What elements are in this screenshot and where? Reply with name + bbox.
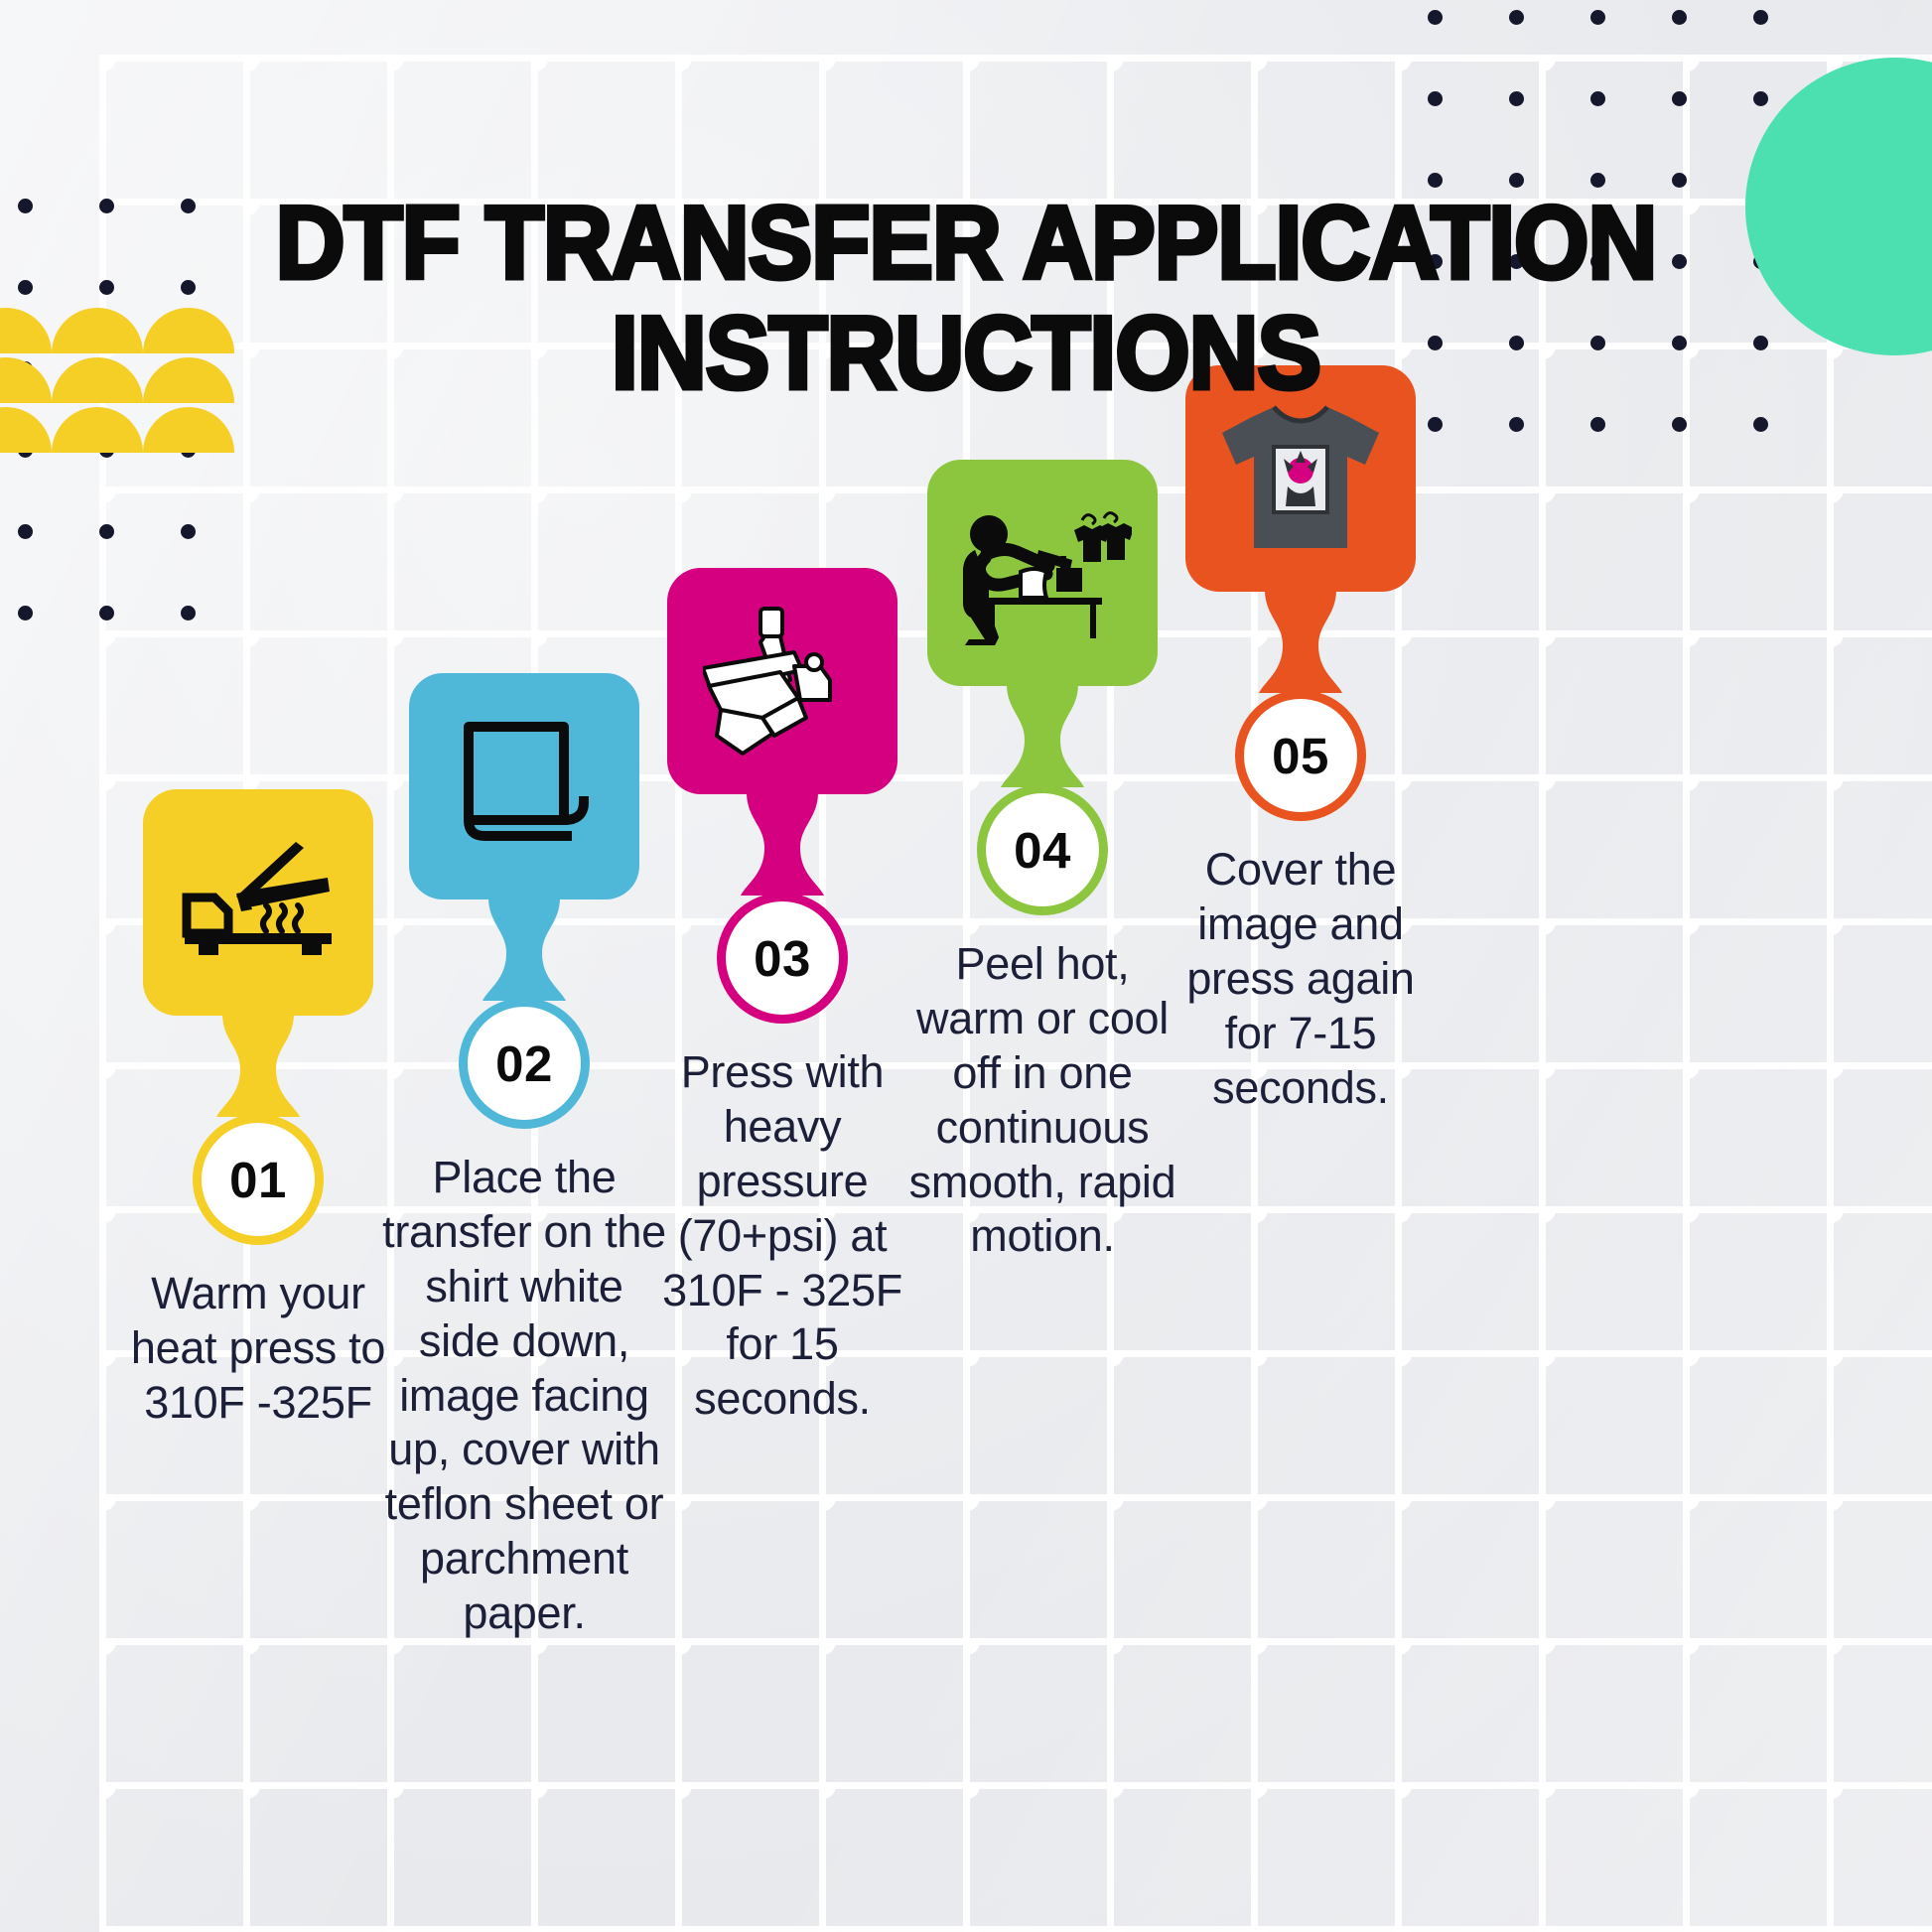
step-item-02[interactable]: 02 Place the transfer on the shirt white… <box>375 673 673 1641</box>
step-number-badge-05: 05 <box>1235 690 1366 821</box>
step-number-02: 02 <box>495 1035 553 1093</box>
step-icon-card-03 <box>667 568 897 794</box>
step-description-03: Press with heavy pressure (70+psi) at 31… <box>633 1045 931 1427</box>
step-connector-03 <box>633 792 931 896</box>
step-description-02: Place the transfer on the shirt white si… <box>375 1151 673 1641</box>
step-connector-05 <box>1152 590 1449 693</box>
printed-tshirt-icon <box>1216 399 1385 558</box>
step-icon-card-02 <box>409 673 639 899</box>
step-number-badge-01: 01 <box>193 1114 324 1245</box>
page-title-line-1: DTF TRANSFER APPLICATION <box>276 186 1657 301</box>
step-number-badge-02: 02 <box>459 998 590 1129</box>
step-number-03: 03 <box>754 929 811 988</box>
step-connector-02 <box>375 897 673 1001</box>
step-item-05[interactable]: 05 Cover the image and press again for 7… <box>1152 365 1449 1115</box>
step-description-04: Peel hot, warm or cool off in one contin… <box>894 937 1191 1264</box>
step-number-badge-03: 03 <box>717 893 848 1024</box>
page-title: DTF TRANSFER APPLICATION INSTRUCTIONS <box>68 189 1864 410</box>
step-item-01[interactable]: 01 Warm your heat press to 310F -325F <box>109 789 407 1431</box>
person-peeling-transfer-icon <box>953 498 1132 647</box>
step-icon-card-04 <box>927 460 1158 686</box>
step-number-badge-04: 04 <box>977 784 1108 915</box>
step-icon-card-01 <box>143 789 373 1016</box>
transfer-sheet-icon <box>455 717 594 856</box>
step-item-03[interactable]: 03 Press with heavy pressure (70+psi) at… <box>633 568 931 1427</box>
step-connector-04 <box>894 684 1191 787</box>
heat-press-pressing-icon <box>703 607 862 756</box>
step-number-04: 04 <box>1014 821 1071 880</box>
step-connector-01 <box>109 1014 407 1117</box>
step-description-05: Cover the image and press again for 7-15… <box>1152 843 1449 1115</box>
step-description-01: Warm your heat press to 310F -325F <box>109 1267 407 1431</box>
step-number-05: 05 <box>1272 727 1329 785</box>
heat-press-open-icon <box>179 838 338 967</box>
step-number-01: 01 <box>229 1151 287 1209</box>
step-item-04[interactable]: 04 Peel hot, warm or cool off in one con… <box>894 460 1191 1264</box>
page-title-line-2: INSTRUCTIONS <box>612 296 1320 411</box>
